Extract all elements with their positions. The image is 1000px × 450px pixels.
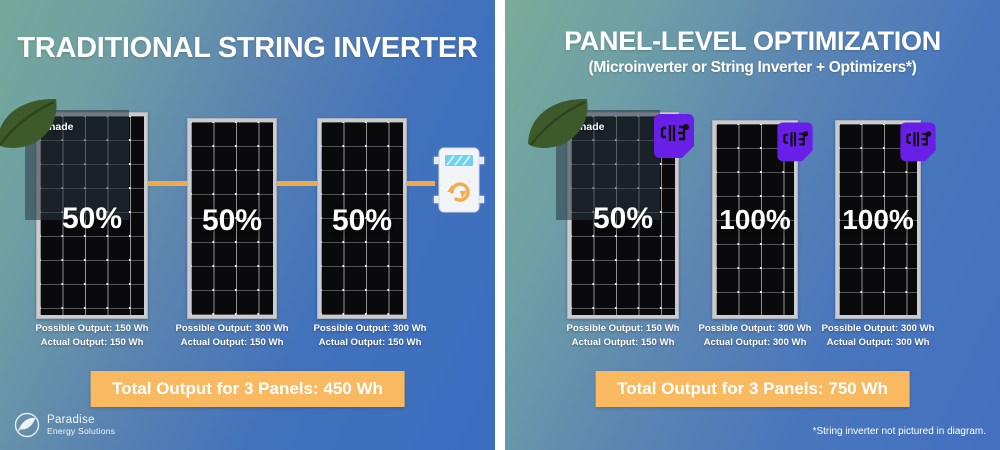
panel-3-possible-output: Possible Output: 300 Wh (803, 322, 953, 336)
panel-1-possible-output: Possible Output: 150 Wh (548, 322, 698, 336)
right-comparison-panel: PANEL-LEVEL OPTIMIZATION (Microinverter … (505, 0, 1000, 450)
optimizer-icon-2 (773, 122, 817, 174)
string-wire-2 (277, 181, 317, 186)
logo-name: Paradise (47, 414, 115, 427)
string-wire-1 (147, 181, 187, 186)
panel-1-actual-output: Actual Output: 150 Wh (548, 336, 698, 350)
panel-3-actual-output: Actual Output: 150 Wh (295, 336, 445, 350)
left-output-labels: Possible Output: 150 Wh Actual Output: 1… (0, 322, 495, 356)
panel-1-actual-output: Actual Output: 150 Wh (17, 336, 167, 350)
panel-3-percent: 50% (317, 206, 407, 236)
panel-1-possible-output: Possible Output: 150 Wh (17, 322, 167, 336)
panel-2-percent: 50% (187, 206, 277, 236)
panel-2-possible-output: Possible Output: 300 Wh (157, 322, 307, 336)
panel-3-actual-output: Actual Output: 300 Wh (803, 336, 953, 350)
optimizer-icon-1 (649, 114, 699, 172)
panel-3-output: Possible Output: 300 Wh Actual Output: 3… (803, 322, 953, 350)
panel-3-possible-output: Possible Output: 300 Wh (295, 322, 445, 336)
left-total-banner: Total Output for 3 Panels: 450 Wh (90, 371, 405, 407)
panel-2-percent: 100% (705, 206, 805, 234)
panel-3-percent: 100% (828, 206, 928, 234)
right-subtitle: (Microinverter or String Inverter + Opti… (505, 59, 1000, 77)
panel-2-output: Possible Output: 300 Wh Actual Output: 1… (157, 322, 307, 350)
right-total-banner: Total Output for 3 Panels: 750 Wh (595, 371, 910, 407)
leaf-icon-right (525, 98, 599, 162)
right-panels-row: 50% Shade 100% 100% (505, 112, 1000, 327)
logo-tagline: Energy Solutions (47, 427, 115, 437)
panel-1-percent: 50% (36, 204, 148, 234)
string-inverter-icon (430, 140, 488, 220)
panel-3-output: Possible Output: 300 Wh Actual Output: 1… (295, 322, 445, 350)
optimizer-icon-3 (896, 122, 940, 174)
panel-1-percent: 50% (567, 204, 679, 234)
leaf-icon-left (0, 98, 68, 162)
paradise-logo: Paradise Energy Solutions (14, 412, 115, 438)
left-title: TRADITIONAL STRING INVERTER (0, 32, 495, 65)
left-comparison-panel: TRADITIONAL STRING INVERTER 50% Shade 50… (0, 0, 495, 450)
panel-2-actual-output: Actual Output: 150 Wh (157, 336, 307, 350)
paradise-leaf-logo-icon (14, 412, 40, 438)
panel-1-output: Possible Output: 150 Wh Actual Output: 1… (548, 322, 698, 350)
left-panels-row: 50% Shade 50% 50% (0, 112, 495, 327)
logo-text: Paradise Energy Solutions (47, 414, 115, 437)
right-output-labels: Possible Output: 150 Wh Actual Output: 1… (505, 322, 1000, 356)
solar-comparison-infographic: TRADITIONAL STRING INVERTER 50% Shade 50… (0, 0, 1000, 450)
right-title: PANEL-LEVEL OPTIMIZATION (505, 26, 1000, 57)
panel-1-output: Possible Output: 150 Wh Actual Output: 1… (17, 322, 167, 350)
footnote: *String inverter not pictured in diagram… (813, 426, 986, 437)
